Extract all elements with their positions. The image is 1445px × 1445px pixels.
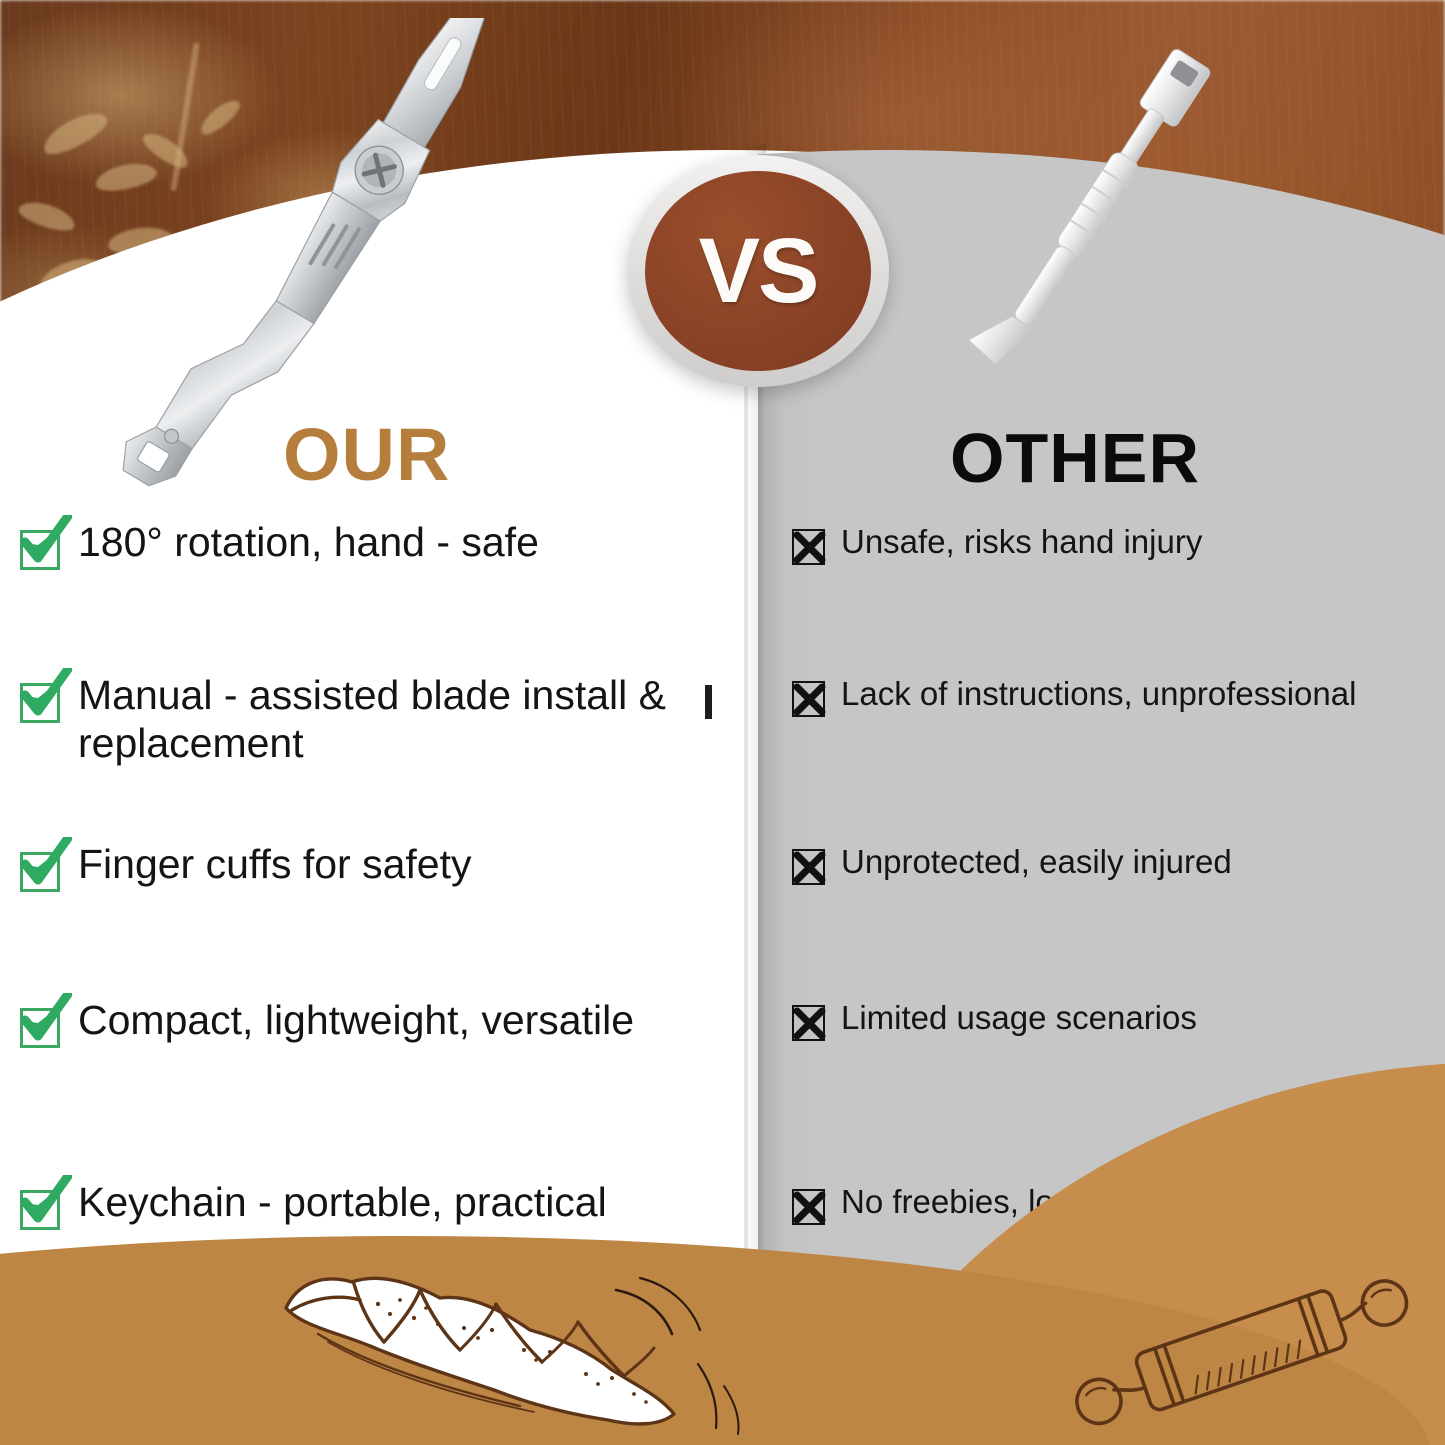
list-item-label: Unprotected, easily injured [841,843,1232,882]
other-column-title: OTHER [950,418,1200,498]
list-item-label: Compact, lightweight, versatile [78,996,634,1044]
plastic-bread-lame-image [930,20,1250,410]
list-item-label: Lack of instructions, unprofessional [841,675,1356,714]
check-icon [18,846,64,892]
list-item-label: Unsafe, risks hand injury [841,523,1202,562]
comparison-infographic: 24 [0,0,1445,1445]
check-icon [18,1184,64,1230]
list-item: Compact, lightweight, versatile [18,1000,634,1048]
x-icon [790,1002,828,1042]
rolling-pin-illustration [1058,1268,1428,1443]
list-item: Keychain - portable, practical [18,1182,607,1230]
list-item: Lack of instructions, unprofessional [790,676,1435,718]
list-item-label: Limited usage scenarios [841,999,1197,1038]
list-item-label: Manual - assisted blade install & replac… [78,671,718,768]
list-item: Finger cuffs for safety [18,844,471,892]
vs-badge-circle: VS [645,171,871,371]
list-item-label: Keychain - portable, practical [78,1178,607,1226]
our-column-title: OUR [283,412,450,497]
baguette-bread-illustration [268,1238,748,1438]
list-item: 180° rotation, hand - safe [18,522,539,570]
check-icon [18,677,64,723]
vs-badge: VS [627,155,889,387]
list-item-label: Finger cuffs for safety [78,840,471,888]
list-item: Manual - assisted blade install & replac… [18,675,718,768]
x-icon [790,678,828,718]
x-icon [790,1186,828,1226]
list-item: Unsafe, risks hand injury [790,524,1202,566]
x-icon [790,526,828,566]
vs-badge-label: VS [645,171,871,371]
list-item-label: 180° rotation, hand - safe [78,518,539,566]
list-item: Limited usage scenarios [790,1000,1197,1042]
list-item: Unprotected, easily injured [790,844,1232,886]
x-icon [790,846,828,886]
check-icon [18,524,64,570]
check-icon [18,1002,64,1048]
